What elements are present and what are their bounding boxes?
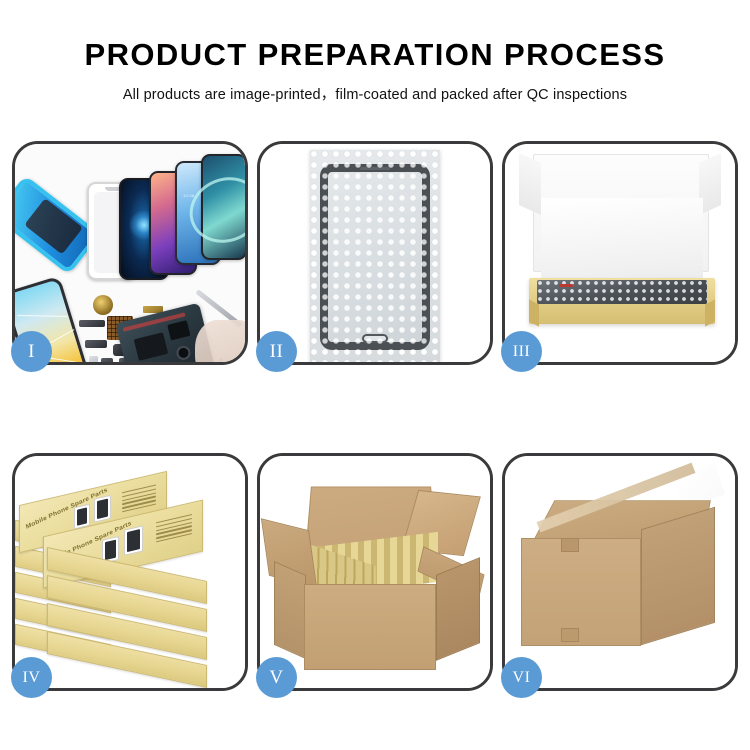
step-panel-5: V	[257, 453, 493, 691]
yellow-box-stack: Mobile Phone Spare Parts Mobile Phone Sp…	[15, 468, 245, 688]
step-panel-1: 10:08	[12, 141, 248, 365]
step-badge-6: VI	[501, 657, 542, 698]
step-badge-3: III	[501, 331, 542, 372]
header: PRODUCT PREPARATION PROCESS All products…	[0, 0, 750, 104]
connector-part	[79, 320, 105, 327]
bubble-wrap-sheet	[310, 150, 440, 362]
earpiece-slot	[360, 167, 390, 170]
step-panel-6: VI	[502, 453, 738, 691]
carton-handle-notch	[561, 538, 579, 552]
page-title: PRODUCT PREPARATION PROCESS	[0, 38, 750, 72]
small-chip-part	[85, 340, 107, 348]
carton-body-front	[304, 584, 436, 670]
technician-hand	[195, 320, 245, 362]
wrapped-product	[537, 280, 707, 304]
step-panel-4: Mobile Phone Spare Parts Mobile Phone Sp…	[12, 453, 248, 691]
step-badge-1: I	[11, 331, 52, 372]
phone-front-glass	[320, 164, 430, 350]
step-2-image	[260, 144, 490, 362]
step-panel-2: II	[257, 141, 493, 365]
carton-body-left	[274, 561, 306, 659]
vibrator-coil-part	[93, 295, 113, 315]
step-6-image	[505, 456, 735, 688]
infographic-page: PRODUCT PREPARATION PROCESS All products…	[0, 0, 750, 750]
camera-module-part	[101, 358, 113, 362]
box-print-phone-image	[124, 525, 143, 555]
step-3-image	[505, 144, 735, 362]
step-panel-3: III	[502, 141, 738, 365]
step-5-image	[260, 456, 490, 688]
kraft-inner-box	[529, 278, 715, 324]
process-step-grid: 10:08	[12, 141, 738, 691]
step-4-image: Mobile Phone Spare Parts Mobile Phone Sp…	[15, 456, 245, 688]
sim-tray-part	[89, 356, 98, 362]
foam-padding	[541, 198, 703, 282]
step-badge-4: IV	[11, 657, 52, 698]
teal-wave-phone	[201, 154, 245, 260]
page-subtitle: All products are image-printed，film-coat…	[0, 83, 750, 104]
carton-body-side	[436, 557, 480, 661]
step-badge-2: II	[256, 331, 297, 372]
step-1-image: 10:08	[15, 144, 245, 362]
step-badge-5: V	[256, 657, 297, 698]
home-button-cutout	[362, 334, 388, 343]
sealed-carton-side	[641, 507, 715, 646]
sealed-carton-front	[521, 538, 641, 646]
carton-handle-notch	[561, 628, 579, 642]
box-lid-left	[519, 153, 541, 215]
box-print-phone-image	[94, 495, 111, 523]
